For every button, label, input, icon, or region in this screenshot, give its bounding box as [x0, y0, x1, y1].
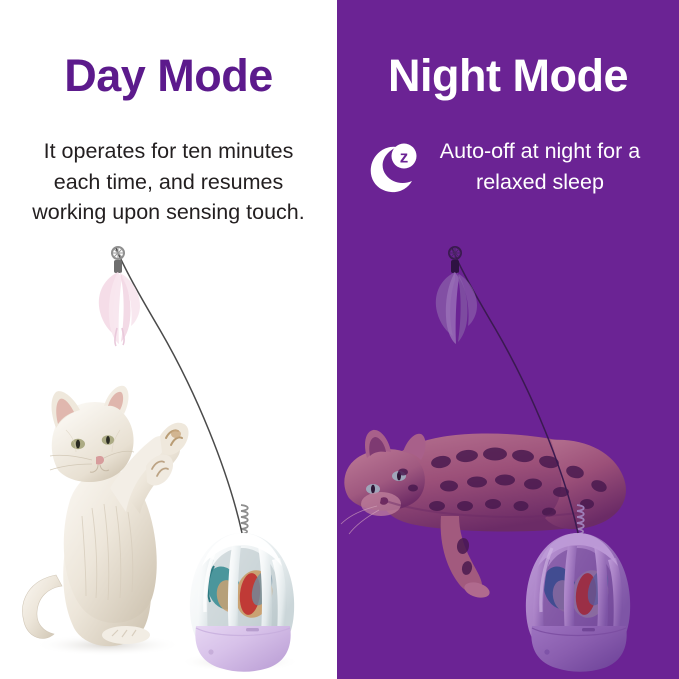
day-scene-illustration: [0, 0, 337, 679]
cat-pupil-right: [106, 436, 110, 444]
night-mode-scene: [337, 0, 679, 679]
day-mode-scene: [0, 0, 337, 679]
feather-tassel-day: [88, 236, 168, 346]
cat-paw-upper: [160, 423, 189, 455]
cat-hind-paw: [102, 626, 150, 644]
standing-cat: [22, 386, 188, 646]
toy-button: [208, 649, 213, 654]
toy-indicator-slot: [582, 628, 595, 631]
toy-button: [544, 649, 549, 654]
cat-pupil-left: [371, 485, 375, 494]
feather-tassel-night: [425, 236, 505, 346]
cat-pupil-left: [76, 440, 80, 449]
night-mode-panel: Night Mode z Auto-off at night for a rel…: [337, 0, 679, 679]
wand-clip-barrel: [114, 260, 122, 273]
wand-clip-barrel: [451, 260, 459, 273]
feather-plumes: [436, 272, 477, 344]
feather-plumes: [99, 272, 140, 346]
day-mode-panel: Day Mode It operates for ten minutes eac…: [0, 0, 337, 679]
cat-tail: [22, 575, 62, 638]
toy-spring: [241, 505, 248, 534]
night-scene-illustration: [337, 0, 679, 679]
toy-indicator-slot: [246, 628, 259, 631]
wand-clip: [112, 247, 124, 273]
wand-clip: [449, 247, 461, 273]
product-infographic: Day Mode It operates for ten minutes eac…: [0, 0, 679, 679]
